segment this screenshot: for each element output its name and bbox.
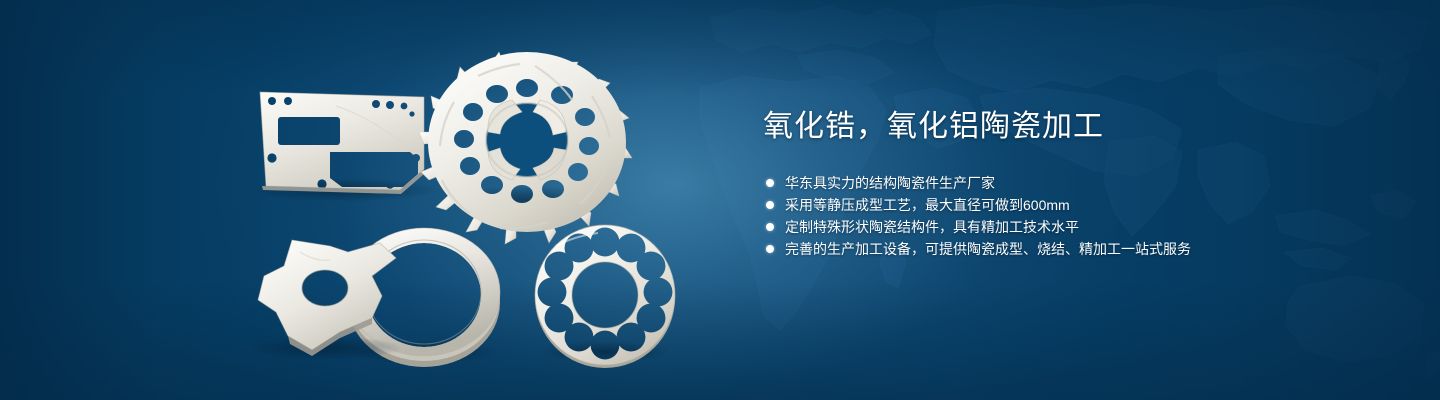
feature-list-item: 完善的生产加工设备，可提供陶瓷成型、烧结、精加工一站式服务 <box>763 238 1383 260</box>
bullet-dot-icon <box>766 201 774 209</box>
feature-list-item: 定制特殊形状陶瓷结构件，具有精加工技术水平 <box>763 216 1383 238</box>
bullet-dot-icon <box>766 223 774 231</box>
feature-text: 定制特殊形状陶瓷结构件，具有精加工技术水平 <box>785 219 1079 235</box>
feature-list-item: 华东具实力的结构陶瓷件生产厂家 <box>763 172 1383 194</box>
feature-text: 华东具实力的结构陶瓷件生产厂家 <box>785 175 995 191</box>
feature-text: 完善的生产加工设备，可提供陶瓷成型、烧结、精加工一站式服务 <box>785 241 1191 257</box>
product-image-group <box>0 0 740 400</box>
feature-list: 华东具实力的结构陶瓷件生产厂家 采用等静压成型工艺，最大直径可做到600mm 定… <box>763 172 1383 260</box>
banner-headline: 氧化锆，氧化铝陶瓷加工 <box>763 108 1383 146</box>
impeller-hub <box>486 100 568 180</box>
banner-copy: 氧化锆，氧化铝陶瓷加工 华东具实力的结构陶瓷件生产厂家 采用等静压成型工艺，最大… <box>763 108 1383 260</box>
feature-list-item: 采用等静压成型工艺，最大直径可做到600mm <box>763 194 1383 216</box>
bullet-dot-icon <box>766 179 774 187</box>
bullet-dot-icon <box>766 245 774 253</box>
product-ceramic-plate <box>253 92 437 202</box>
feature-text: 采用等静压成型工艺，最大直径可做到600mm <box>785 197 1070 213</box>
product-ceramic-impeller <box>419 52 632 244</box>
product-ceramic-cross-part <box>247 240 403 360</box>
product-perforated-disc <box>535 225 675 368</box>
hero-banner: 氧化锆，氧化铝陶瓷加工 华东具实力的结构陶瓷件生产厂家 采用等静压成型工艺，最大… <box>0 0 1440 400</box>
